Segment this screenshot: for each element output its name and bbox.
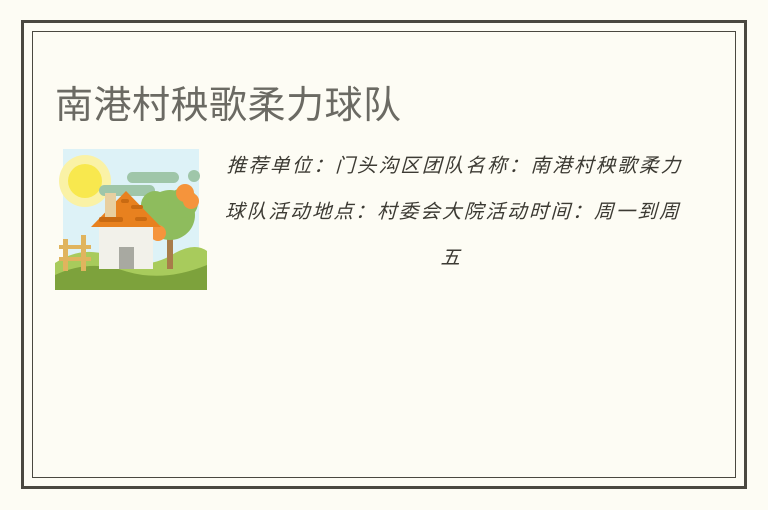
article-body: 推荐单位：门头沟区团队名称：南港村秧歌柔力球队活动地点：村委会大院活动时间：周一…: [55, 143, 685, 297]
place-label: 活动地点：: [268, 200, 377, 223]
article-page: 南港村秧歌柔力球队: [0, 0, 768, 510]
team-label: 团队名称：: [422, 154, 531, 177]
time-label: 活动时间：: [485, 200, 594, 223]
article-detail-text: 推荐单位：门头沟区团队名称：南港村秧歌柔力球队活动地点：村委会大院活动时间：周一…: [53, 143, 688, 281]
place-value: 村委会大院: [377, 200, 486, 223]
recommender-value: 门头沟区: [335, 154, 423, 177]
page-title: 南港村秧歌柔力球队: [55, 82, 402, 131]
recommender-label: 推荐单位：: [226, 154, 335, 177]
